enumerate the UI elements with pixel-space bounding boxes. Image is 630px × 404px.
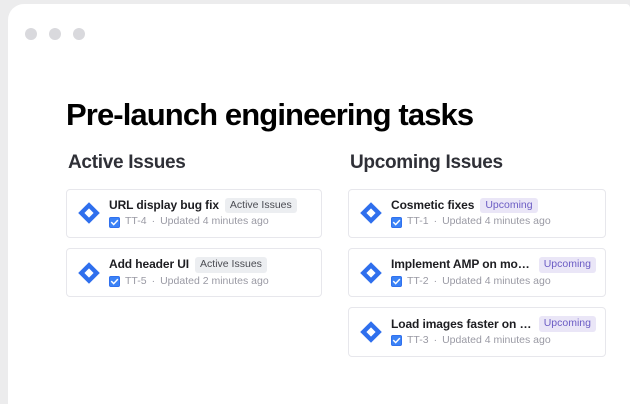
issue-card-body: Load images faster on de... Upcoming TT-… xyxy=(391,316,596,347)
issue-meta: TT-5 · Updated 2 minutes ago xyxy=(109,275,312,289)
status-badge: Upcoming xyxy=(539,316,596,332)
window-titlebar xyxy=(8,4,630,50)
issue-title: URL display bug fix xyxy=(109,198,219,213)
issue-meta: TT-4 · Updated 4 minutes ago xyxy=(109,215,312,229)
issue-card[interactable]: Cosmetic fixes Upcoming TT-1 · Updated 4… xyxy=(348,189,606,238)
checkbox-checked-icon[interactable] xyxy=(109,276,120,287)
status-badge: Upcoming xyxy=(539,257,596,273)
issue-card-top: Implement AMP on mobile... Upcoming xyxy=(391,257,596,273)
issue-title: Implement AMP on mobile... xyxy=(391,257,533,272)
issue-columns: Active Issues URL display bug fix Active… xyxy=(66,152,606,357)
issue-card[interactable]: Load images faster on de... Upcoming TT-… xyxy=(348,307,606,356)
issue-updated: Updated 4 minutes ago xyxy=(160,215,269,229)
checkbox-checked-icon[interactable] xyxy=(391,217,402,228)
column-upcoming-issues: Upcoming Issues Cosmetic fixes Upcoming xyxy=(348,152,606,357)
issue-updated: Updated 4 minutes ago xyxy=(442,275,551,289)
issue-card[interactable]: Implement AMP on mobile... Upcoming TT-2… xyxy=(348,248,606,297)
issue-meta: TT-2 · Updated 4 minutes ago xyxy=(391,275,596,289)
jira-issue-diamond-icon xyxy=(76,260,102,286)
column-heading: Active Issues xyxy=(68,152,322,175)
meta-separator: · xyxy=(434,334,438,348)
issue-card-top: URL display bug fix Active Issues xyxy=(109,198,312,214)
checkbox-checked-icon[interactable] xyxy=(109,217,120,228)
issue-updated: Updated 4 minutes ago xyxy=(442,334,551,348)
jira-issue-diamond-icon xyxy=(358,260,384,286)
issue-meta: TT-1 · Updated 4 minutes ago xyxy=(391,215,596,229)
issue-key: TT-3 xyxy=(407,334,429,348)
issue-card[interactable]: URL display bug fix Active Issues TT-4 ·… xyxy=(66,189,322,238)
meta-separator: · xyxy=(152,275,156,289)
issue-card-top: Cosmetic fixes Upcoming xyxy=(391,198,596,214)
issue-title: Load images faster on de... xyxy=(391,317,533,332)
maximize-dot-icon[interactable] xyxy=(73,28,85,40)
issue-card-body: URL display bug fix Active Issues TT-4 ·… xyxy=(109,198,312,229)
meta-separator: · xyxy=(434,215,438,229)
issue-updated: Updated 2 minutes ago xyxy=(160,275,269,289)
status-badge: Active Issues xyxy=(225,198,297,214)
minimize-dot-icon[interactable] xyxy=(49,28,61,40)
status-badge: Upcoming xyxy=(480,198,537,214)
issue-title: Add header UI xyxy=(109,257,189,272)
window-controls xyxy=(25,28,85,40)
jira-issue-diamond-icon xyxy=(76,200,102,226)
issue-meta: TT-3 · Updated 4 minutes ago xyxy=(391,334,596,348)
issue-key: TT-2 xyxy=(407,275,429,289)
issue-card-list: Cosmetic fixes Upcoming TT-1 · Updated 4… xyxy=(348,189,606,357)
page-title: Pre-launch engineering tasks xyxy=(66,97,473,133)
close-dot-icon[interactable] xyxy=(25,28,37,40)
issue-card-body: Cosmetic fixes Upcoming TT-1 · Updated 4… xyxy=(391,198,596,229)
checkbox-checked-icon[interactable] xyxy=(391,335,402,346)
app-window: Pre-launch engineering tasks Active Issu… xyxy=(8,4,630,404)
meta-separator: · xyxy=(152,215,156,229)
jira-issue-diamond-icon xyxy=(358,319,384,345)
issue-card-list: URL display bug fix Active Issues TT-4 ·… xyxy=(66,189,322,298)
issue-card-top: Add header UI Active Issues xyxy=(109,257,312,273)
issue-card-body: Add header UI Active Issues TT-5 · Updat… xyxy=(109,257,312,288)
issue-card[interactable]: Add header UI Active Issues TT-5 · Updat… xyxy=(66,248,322,297)
column-heading: Upcoming Issues xyxy=(350,152,606,175)
issue-updated: Updated 4 minutes ago xyxy=(442,215,551,229)
meta-separator: · xyxy=(434,275,438,289)
jira-issue-diamond-icon xyxy=(358,200,384,226)
issue-key: TT-5 xyxy=(125,275,147,289)
issue-card-body: Implement AMP on mobile... Upcoming TT-2… xyxy=(391,257,596,288)
issue-title: Cosmetic fixes xyxy=(391,198,474,213)
column-active-issues: Active Issues URL display bug fix Active… xyxy=(66,152,322,357)
checkbox-checked-icon[interactable] xyxy=(391,276,402,287)
issue-key: TT-4 xyxy=(125,215,147,229)
issue-card-top: Load images faster on de... Upcoming xyxy=(391,316,596,332)
status-badge: Active Issues xyxy=(195,257,267,273)
issue-key: TT-1 xyxy=(407,215,429,229)
